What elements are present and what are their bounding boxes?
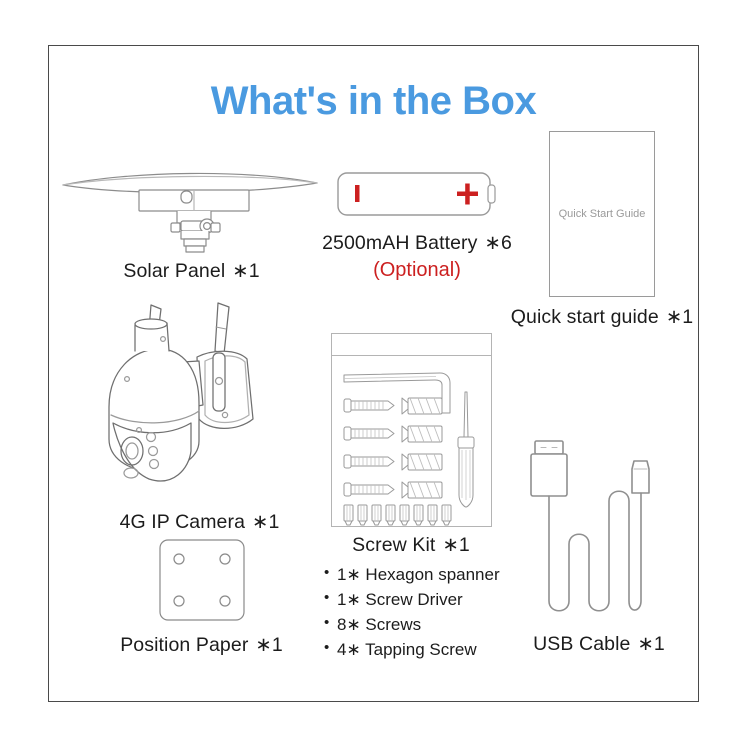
position-paper-icon <box>109 536 294 626</box>
usb-cable-qty: ∗1 <box>637 633 664 655</box>
position-paper-qty: ∗1 <box>255 634 282 656</box>
whats-in-the-box-poster: What's in the Box Solar Panel∗1 <box>48 45 699 702</box>
screw-kit-label: Screw Kit <box>352 534 435 556</box>
booklet-cover-text: Quick Start Guide <box>550 208 654 220</box>
list-item: 1∗ Hexagon spanner <box>324 563 511 588</box>
solar-panel-qty: ∗1 <box>232 260 259 282</box>
usb-cable-caption: USB Cable∗1 <box>501 632 697 656</box>
battery-caption: 2500mAH Battery∗6 <box>317 231 517 255</box>
item-position-paper: Position Paper∗1 <box>109 536 294 657</box>
position-paper-label: Position Paper <box>120 634 248 656</box>
ip-camera-qty: ∗1 <box>252 511 279 533</box>
item-screw-kit: Screw Kit∗1 1∗ Hexagon spanner 1∗ Screw … <box>311 333 511 663</box>
battery-optional-note: (Optional) <box>317 259 517 282</box>
position-paper-caption: Position Paper∗1 <box>109 633 294 657</box>
item-quick-start-guide: Quick Start Guide Quick start guide∗1 <box>504 131 700 329</box>
usb-cable-label: USB Cable <box>533 633 630 655</box>
ip-camera-label: 4G IP Camera <box>120 511 245 533</box>
screw-kit-qty: ∗1 <box>442 534 469 556</box>
ip-camera-caption: 4G IP Camera∗1 <box>87 510 312 534</box>
screw-kit-caption: Screw Kit∗1 <box>311 533 511 557</box>
list-item: 8∗ Screws <box>324 613 511 638</box>
booklet-icon: Quick Start Guide <box>549 131 655 297</box>
item-ip-camera: 4G IP Camera∗1 <box>87 299 312 534</box>
solar-panel-label: Solar Panel <box>123 260 225 282</box>
screw-kit-icon <box>331 333 492 527</box>
solar-panel-icon <box>59 163 324 255</box>
list-item: 1∗ Screw Driver <box>324 588 511 613</box>
solar-panel-caption: Solar Panel∗1 <box>59 259 324 283</box>
item-solar-panel: Solar Panel∗1 <box>59 163 324 283</box>
item-usb-cable: USB Cable∗1 <box>501 436 697 656</box>
page-title: What's in the Box <box>49 79 698 124</box>
battery-icon <box>317 163 517 225</box>
quick-start-guide-label: Quick start guide <box>511 306 659 328</box>
screw-kit-contents-list: 1∗ Hexagon spanner 1∗ Screw Driver 8∗ Sc… <box>311 563 511 663</box>
ptz-camera-icon <box>87 299 312 504</box>
screw-kit-contents <box>332 355 491 526</box>
list-item: 4∗ Tapping Screw <box>324 638 511 663</box>
usb-cable-icon <box>501 436 697 626</box>
item-battery: 2500mAH Battery∗6 (Optional) <box>317 163 517 282</box>
quick-start-guide-qty: ∗1 <box>666 306 693 328</box>
quick-start-guide-caption: Quick start guide∗1 <box>504 305 700 329</box>
battery-label: 2500mAH Battery <box>322 232 477 254</box>
